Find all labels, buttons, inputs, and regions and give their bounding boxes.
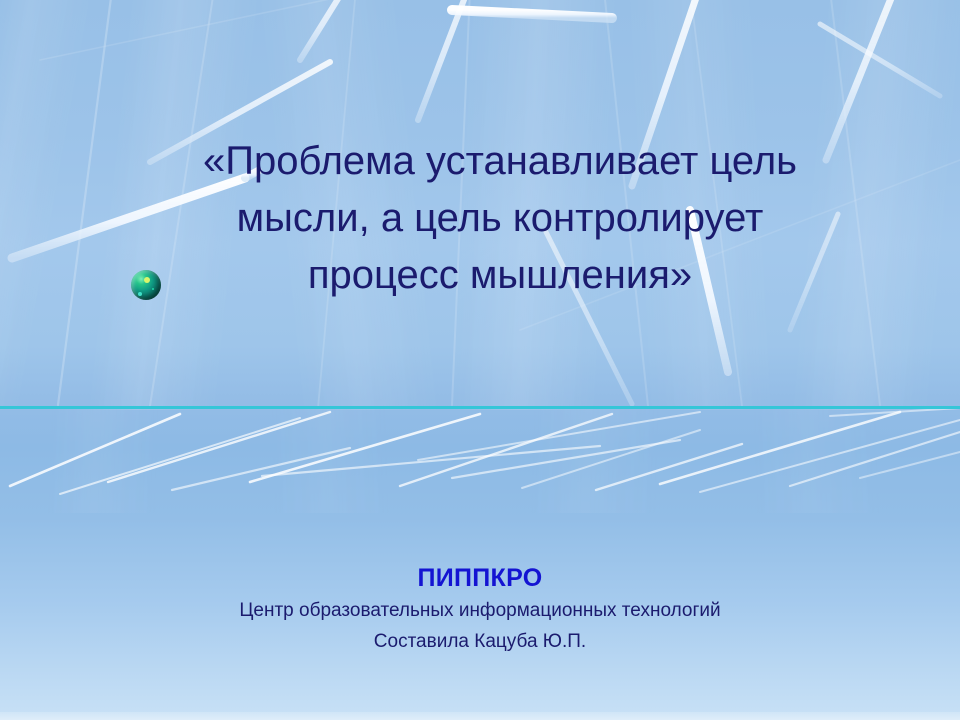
author-credit: Составила Кацуба Ю.П. xyxy=(80,626,880,657)
footer-block: ПИППКРО Центр образовательных информацио… xyxy=(80,561,880,657)
title-line-3: процесс мышления» xyxy=(120,247,880,304)
presentation-slide: «Проблема устанавливает цель мысли, а це… xyxy=(0,0,960,720)
title-line-2: мысли, а цель контролирует xyxy=(120,190,880,247)
horizon-rule xyxy=(0,406,960,409)
title-line-1: «Проблема устанавливает цель xyxy=(120,133,880,190)
page-title: «Проблема устанавливает цель мысли, а це… xyxy=(120,133,880,304)
organization-name: ПИППКРО xyxy=(80,561,880,595)
bottom-edge-strip xyxy=(0,712,960,720)
department-name: Центр образовательных информационных тех… xyxy=(80,595,880,626)
